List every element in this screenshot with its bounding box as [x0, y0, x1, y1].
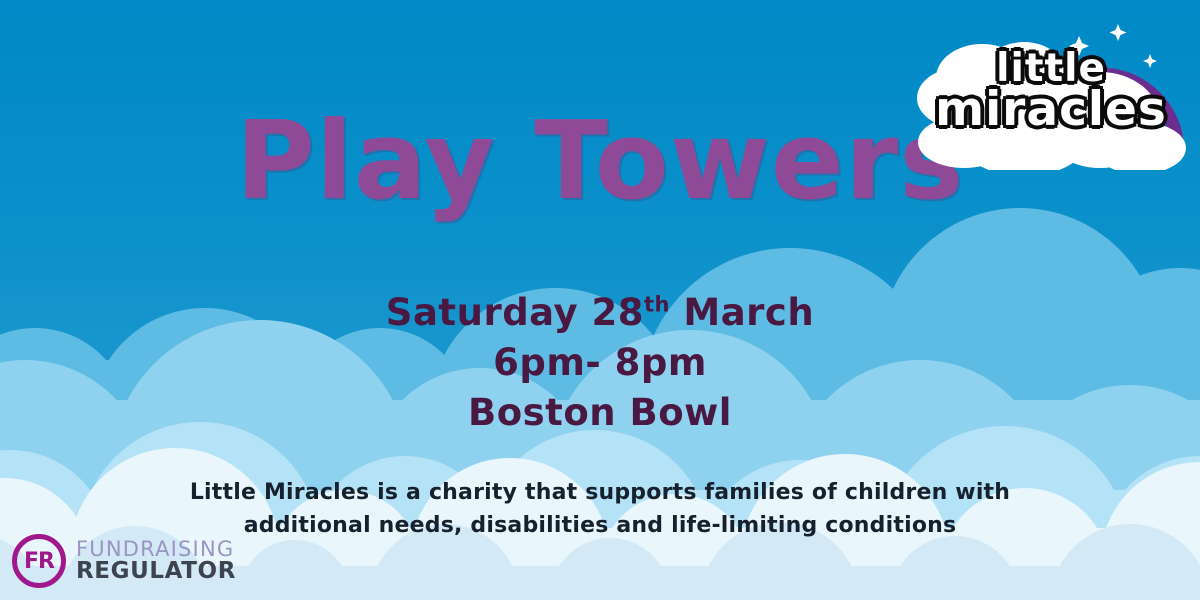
- event-date-line: Saturday 28th March: [0, 288, 1200, 338]
- fr-word-fundraising: FUNDRAISING: [76, 539, 236, 560]
- event-banner: Play Towers Saturday 28th March 6pm- 8pm…: [0, 0, 1200, 600]
- fr-monogram-text: FR: [24, 549, 54, 574]
- event-venue-line: Boston Bowl: [0, 388, 1200, 438]
- little-miracles-logo: little miracles: [904, 2, 1194, 170]
- fr-wordmark: FUNDRAISING REGULATOR: [76, 539, 236, 584]
- rainbow-cloud-icon: [904, 2, 1194, 170]
- tagline-line-1: Little Miracles is a charity that suppor…: [0, 476, 1200, 509]
- event-date-ordinal-suffix: th: [644, 293, 670, 317]
- event-date-text: Saturday 28: [386, 291, 644, 334]
- event-month-text: March: [670, 291, 814, 334]
- fundraising-regulator-logo: FR FUNDRAISING REGULATOR: [12, 534, 236, 588]
- fr-monogram-icon: FR: [12, 534, 66, 588]
- event-time-line: 6pm- 8pm: [0, 338, 1200, 388]
- event-details: Saturday 28th March 6pm- 8pm Boston Bowl: [0, 288, 1200, 438]
- charity-tagline: Little Miracles is a charity that suppor…: [0, 476, 1200, 542]
- fr-word-regulator: REGULATOR: [76, 560, 236, 583]
